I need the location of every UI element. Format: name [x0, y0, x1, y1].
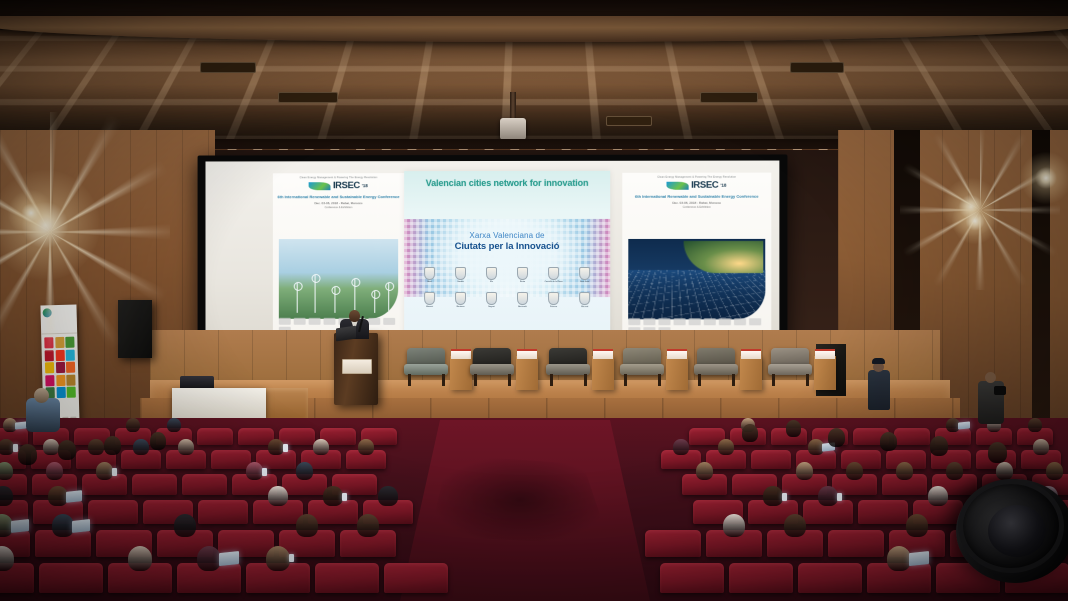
audience-member: [133, 439, 148, 455]
auditorium-seat: [384, 563, 448, 593]
banner-footer: Conference & Exhibition: [622, 206, 771, 209]
camera-icon: [994, 386, 1006, 395]
photographer-head: [985, 372, 996, 383]
city-crest-row-2: AlacantBorrianaSaguntBenicarlóPaternaVil…: [414, 292, 600, 308]
audience-member: [673, 439, 688, 455]
aisle-shadow: [430, 455, 610, 545]
audience-member: [818, 486, 837, 506]
irsec-right-banner: Clean Energy Management & Powering The E…: [622, 173, 771, 354]
irsec-logo: IRSEC '18: [622, 180, 771, 191]
auditorium-seat: [211, 450, 251, 469]
ceiling-projector: [500, 118, 526, 140]
audience-member: [167, 418, 181, 432]
chair-leg: [732, 374, 735, 386]
stage-side-table: [666, 356, 688, 390]
city-crest: Benicarló: [513, 292, 533, 308]
irsec-wordmark: IRSEC: [691, 180, 718, 191]
audience-member: [742, 424, 758, 442]
audience-member: [296, 514, 318, 537]
ceiling-vent: [700, 92, 758, 103]
city-crest: Dénia: [513, 267, 533, 283]
stage-side-table: [516, 356, 538, 390]
auditorium-seat: [315, 563, 379, 593]
speaker-name-card: [815, 349, 835, 359]
rollup-header: [40, 305, 77, 335]
crest-shield-icon: [486, 292, 497, 305]
banner-subtitle: 6th International Renewable and Sustaina…: [622, 194, 771, 200]
audience-member: [266, 546, 290, 571]
audience-member: [1028, 418, 1042, 432]
auditorium-seat: [828, 530, 884, 557]
solar-panel-array: [628, 271, 765, 319]
av-control-table: [172, 388, 266, 418]
audience-member: [128, 546, 152, 571]
audience-member: [930, 436, 948, 456]
irsec-edition: '18: [362, 183, 368, 188]
attendee-phone: [289, 554, 294, 562]
audience-member: [126, 418, 140, 432]
crest-shield-icon: [455, 292, 466, 305]
rollup-logo-icon: [43, 308, 52, 317]
audience-member: [18, 444, 37, 465]
podium-logo-plate: [342, 359, 372, 374]
stage-side-table: [592, 356, 614, 390]
seated-attendee-left: [26, 398, 60, 432]
audience-member: [786, 420, 801, 437]
audience-member: [906, 514, 928, 537]
attendee-laptop: [958, 421, 970, 430]
attendee-phone: [13, 444, 18, 452]
chair-leg: [698, 374, 701, 386]
chair-leg: [624, 374, 627, 386]
crest-label: Castelló de la Plana: [545, 281, 563, 283]
presentation-slide: Valencian cities network for innovation …: [404, 171, 610, 355]
ceiling-vent: [200, 62, 256, 73]
city-crest: Paterna: [544, 292, 564, 308]
chair-leg: [474, 374, 477, 386]
audience-member: [0, 462, 13, 480]
audience-member: [723, 514, 745, 537]
attendee-laptop: [66, 490, 82, 502]
banner-subtitle: 6th International Renewable and Sustaina…: [273, 194, 404, 200]
attendee-laptop: [72, 519, 90, 533]
auditorium-seat: [858, 500, 908, 524]
attendee-laptop: [219, 551, 239, 566]
city-crest: Gandia: [451, 267, 471, 283]
audience-member: [246, 462, 263, 480]
banner-date: Dec. 03-06, 2018 - Rabat, Morocco: [622, 201, 771, 205]
audience-member: [1033, 439, 1048, 455]
audience-member: [357, 514, 379, 537]
audience-member: [88, 439, 103, 455]
attendee-laptop: [909, 551, 929, 566]
auditorium-seat: [798, 563, 862, 593]
auditorium-seat: [198, 500, 248, 524]
audience-member: [358, 439, 373, 455]
banner-date: Dec. 03-06, 2018 - Rabat, Morocco: [273, 201, 404, 205]
slide-subtitle-large: Ciutats per la Innovació: [404, 241, 610, 252]
crest-label: Sagunt: [488, 306, 494, 308]
ceiling-vent: [606, 116, 652, 126]
audience-member: [52, 514, 74, 537]
audience-member: [928, 486, 947, 506]
attendee-phone: [283, 444, 288, 452]
crest-label: Elx: [490, 281, 493, 283]
attendee-phone: [112, 468, 117, 476]
seated-attendee-left-head: [34, 388, 49, 403]
city-crest-row-1: AlcoiGandiaElxDéniaCastelló de la PlanaS…: [414, 267, 600, 283]
attendee-phone: [342, 493, 347, 501]
banner-footer: Conference & Exhibition: [273, 206, 404, 209]
ceiling-vent: [278, 92, 338, 103]
irsec-left-banner: Clean Energy Management & Powering The E…: [273, 173, 404, 353]
crest-shield-icon: [424, 292, 435, 305]
coffered-wood-ceiling: [0, 30, 1068, 143]
auditorium-seat: [660, 563, 724, 593]
crest-label: Borriana: [457, 306, 465, 308]
chair-leg: [658, 374, 661, 386]
city-crest: Sant Joan: [575, 267, 595, 283]
event-photographer: [978, 372, 1004, 424]
screen-surface: Clean Energy Management & Powering The E…: [205, 161, 779, 355]
audience-member: [784, 514, 806, 537]
lens-front-element: [988, 505, 1046, 557]
crest-label: Gandia: [457, 281, 463, 283]
city-crest: Elx: [482, 267, 502, 283]
chair-leg: [508, 374, 511, 386]
audience-member: [887, 546, 911, 571]
crest-shield-icon: [455, 267, 466, 280]
audience-member: [0, 439, 14, 455]
banner-tagline: Clean Energy Management & Powering The E…: [273, 176, 404, 179]
audience-member: [46, 462, 63, 480]
ceiling-vent: [790, 62, 844, 73]
security-guard: [868, 358, 890, 410]
crest-label: Sant Joan: [580, 281, 589, 283]
audience-member: [150, 432, 166, 450]
audience-member: [1046, 462, 1063, 480]
audience-member: [174, 514, 196, 537]
crest-shield-icon: [579, 267, 590, 280]
attendee-phone: [837, 493, 842, 501]
audience-member: [896, 462, 913, 480]
irsec-swoosh-icon: [309, 182, 331, 190]
crest-shield-icon: [517, 292, 528, 305]
chair-leg: [772, 374, 775, 386]
crest-label: Vila-real: [581, 306, 588, 308]
auditorium-seat: [39, 563, 103, 593]
audience-member: [268, 486, 287, 506]
banner-tagline: Clean Energy Management & Powering The E…: [622, 176, 771, 179]
audience-member: [988, 442, 1007, 463]
auditorium-seat: [182, 474, 227, 495]
stage-side-table: [450, 356, 472, 390]
audience-member: [296, 462, 313, 480]
audience-member: [378, 486, 397, 506]
auditorium-seat: [279, 428, 315, 445]
speaker-name-card: [517, 349, 537, 359]
stage-side-table: [740, 356, 762, 390]
chair-leg: [408, 374, 411, 386]
audience-member: [718, 439, 733, 455]
guard-cap-icon: [872, 358, 885, 364]
crest-shield-icon: [548, 292, 559, 305]
audience-member: [763, 486, 782, 506]
audience-member: [178, 439, 193, 455]
podium: [334, 333, 378, 405]
speaker-name-card: [667, 349, 687, 359]
stage-armchair: [620, 348, 664, 384]
wind-turbine-photo: [279, 239, 398, 319]
crest-shield-icon: [486, 267, 497, 280]
auditorium-photo: Clean Energy Management & Powering The E…: [0, 0, 1068, 601]
audience-member: [946, 462, 963, 480]
chair-leg: [584, 374, 587, 386]
audience-member: [48, 486, 67, 506]
attendee-phone: [262, 468, 267, 476]
audience-member: [796, 462, 813, 480]
crest-shield-icon: [579, 292, 590, 305]
audience-member: [846, 462, 863, 480]
crest-shield-icon: [424, 267, 435, 280]
auditorium-seat: [88, 500, 138, 524]
speaker-name-card: [451, 349, 471, 359]
crest-shield-icon: [548, 267, 559, 280]
crest-label: Alcoi: [427, 281, 432, 283]
auditorium-seat: [132, 474, 177, 495]
auditorium-seat: [751, 450, 791, 469]
attendee-phone: [782, 493, 787, 501]
audience-member: [996, 462, 1013, 480]
audience-member: [313, 439, 328, 455]
irsec-edition: '18: [720, 183, 726, 188]
chair-leg: [550, 374, 553, 386]
guard-body: [868, 370, 890, 410]
city-crest: Sagunt: [482, 292, 502, 308]
audience-member: [268, 439, 283, 455]
auditorium-seat: [645, 530, 701, 557]
audience-member: [880, 432, 897, 451]
slide-subtitle-small: Xarxa Valenciana de: [404, 231, 610, 240]
crest-label: Benicarló: [518, 306, 527, 308]
stage-armchair: [768, 348, 812, 384]
crest-shield-icon: [517, 267, 528, 280]
city-crest: Castelló de la Plana: [544, 267, 564, 283]
stage-armchair: [404, 348, 448, 384]
audience-member: [58, 440, 76, 460]
right-wall-dark-column: [1032, 130, 1050, 460]
crest-label: Dénia: [520, 281, 525, 283]
irsec-logo: IRSEC '18: [273, 180, 404, 191]
speaker-name-card: [593, 349, 613, 359]
audience-member: [323, 486, 342, 506]
city-crest: Alacant: [420, 292, 440, 308]
stage-armchair: [546, 348, 590, 384]
chair-leg: [806, 374, 809, 386]
solar-panel-photo: [628, 239, 765, 319]
city-crest: Borriana: [451, 292, 471, 308]
stage-side-table: [814, 356, 836, 390]
speaker-name-card: [741, 349, 761, 359]
slide-title: Valencian cities network for innovation: [404, 178, 610, 188]
audience-member: [696, 462, 713, 480]
auditorium-seat: [729, 563, 793, 593]
crest-label: Alacant: [426, 306, 433, 308]
presenter-head: [349, 310, 360, 322]
stage-armchair: [470, 348, 514, 384]
irsec-wordmark: IRSEC: [333, 180, 360, 191]
chair-leg: [442, 374, 445, 386]
auditorium-seat: [894, 428, 930, 445]
crest-label: Paterna: [550, 306, 557, 308]
audience-member: [43, 439, 58, 455]
solar-photo-sky: [684, 241, 763, 273]
audience-member: [197, 546, 221, 571]
pa-speaker-left: [118, 300, 152, 358]
audience-member: [96, 462, 113, 480]
city-crest: Vila-real: [575, 292, 595, 308]
auditorium-seat: [197, 428, 233, 445]
audience-member: [104, 436, 121, 455]
stage-armchair: [694, 348, 738, 384]
city-crest: Alcoi: [420, 267, 440, 283]
irsec-swoosh-icon: [667, 181, 689, 189]
audience-member: [0, 486, 13, 506]
audience-member: [828, 428, 845, 447]
attendee-laptop: [11, 519, 29, 533]
